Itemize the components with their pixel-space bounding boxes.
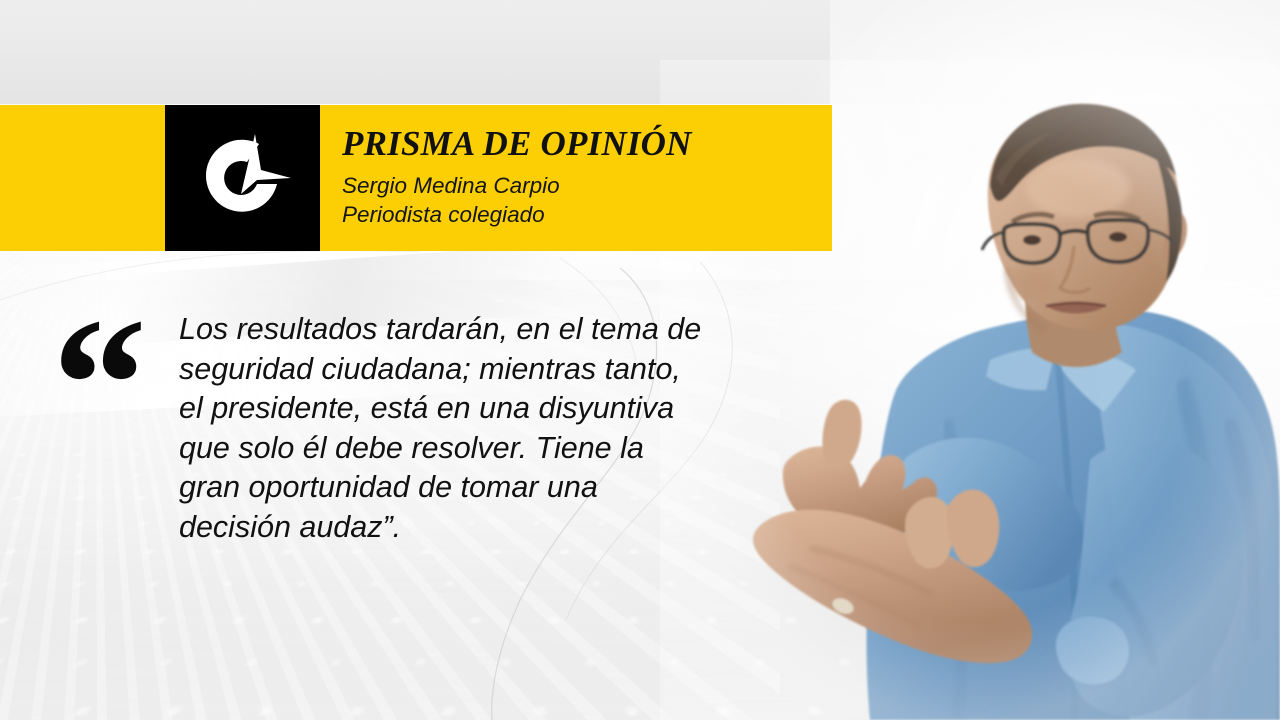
banner-title: PRISMA DE OPINIÓN (342, 126, 832, 161)
prisma-circular-arrow-icon (187, 122, 299, 234)
banner-text-block: PRISMA DE OPINIÓN Sergio Medina Carpio P… (320, 105, 832, 251)
logo-box (165, 105, 320, 251)
quote-mark-icon: “ (52, 290, 147, 480)
opinion-graphic: PRISMA DE OPINIÓN Sergio Medina Carpio P… (0, 0, 1280, 720)
banner-left-spacer (0, 105, 165, 251)
header-banner: PRISMA DE OPINIÓN Sergio Medina Carpio P… (0, 105, 832, 251)
quote-text: Los resultados tardarán, en el tema de s… (179, 310, 719, 547)
banner-role: Periodista colegiado (342, 201, 832, 230)
banner-author: Sergio Medina Carpio (342, 172, 832, 201)
